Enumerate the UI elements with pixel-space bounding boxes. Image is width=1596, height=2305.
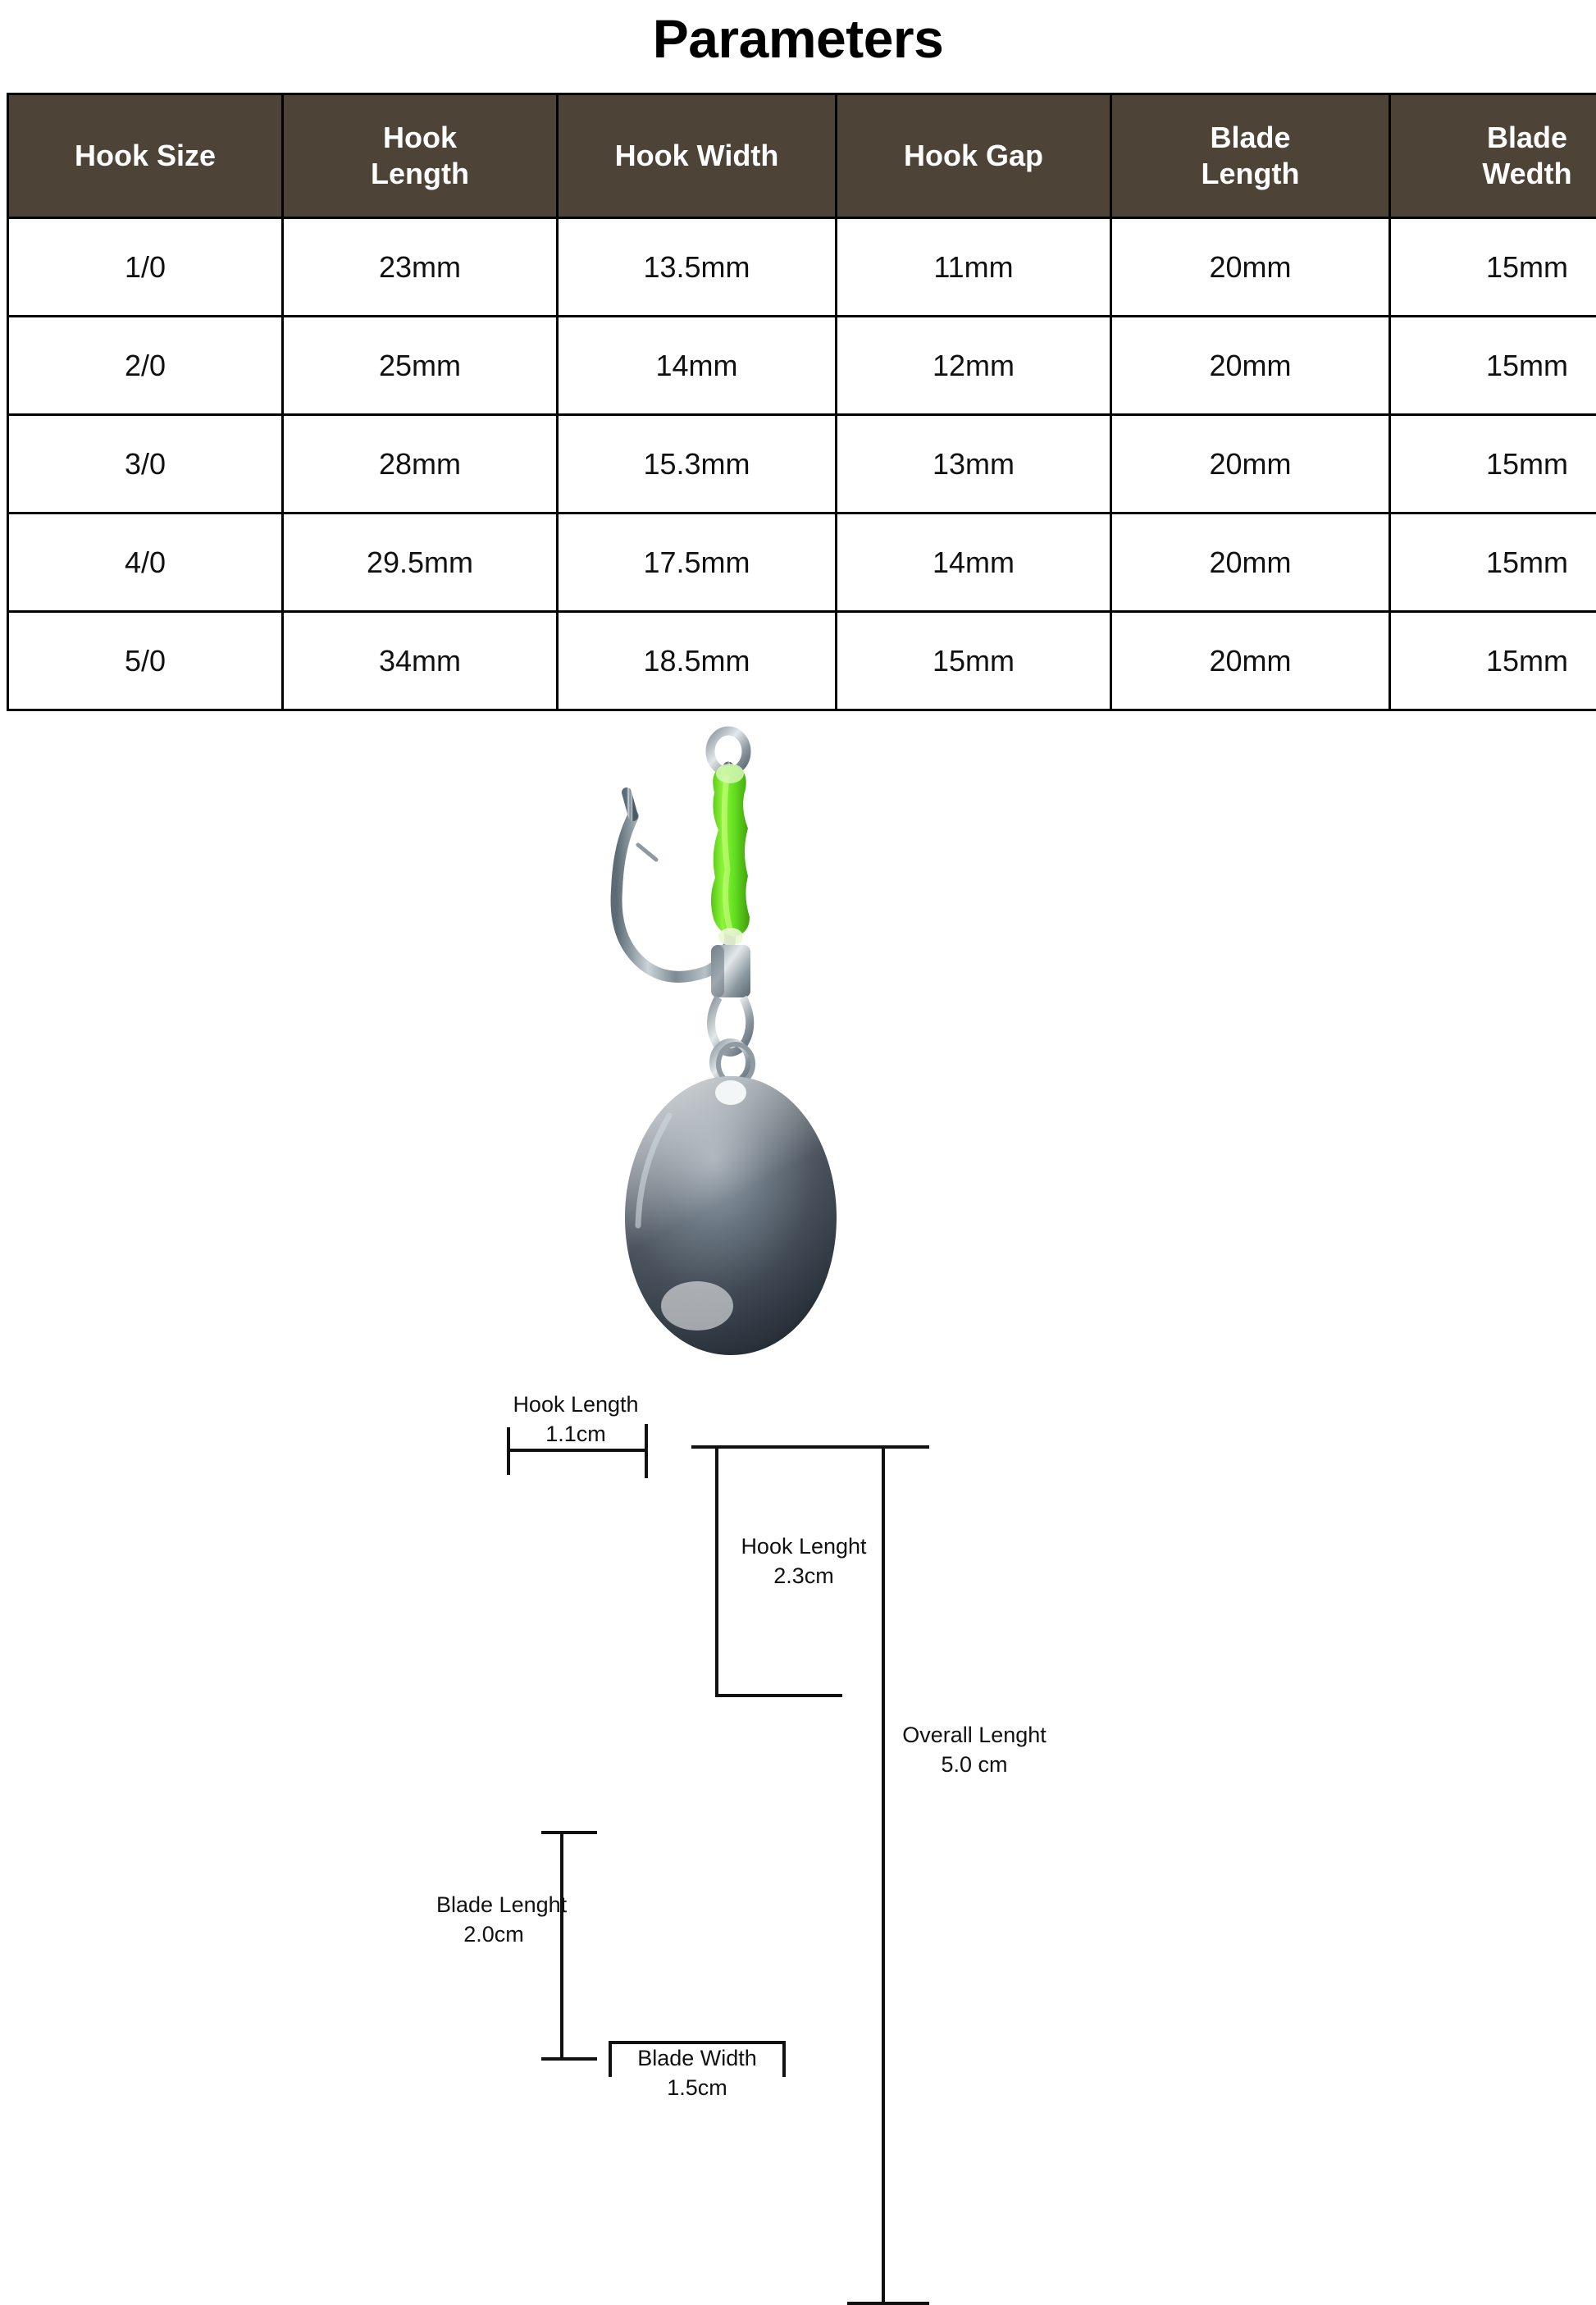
column-header-label: Hook Size [75,139,216,172]
column-header-label-line2: Wedth [1482,157,1571,190]
hook-barb [638,845,656,860]
cell-hook-size: 2/0 [8,317,283,415]
blade-width-dim-value: 1.5cm [667,2075,727,2100]
hook-length-dim-label: Hook Lenght 2.3cm [726,1532,882,1591]
cell-hook-length: 25mm [283,317,558,415]
cell-hook-width: 14mm [558,317,837,415]
lure-skirt [711,765,750,937]
cell-blade-width: 15mm [1390,415,1596,513]
hook-point [627,792,633,816]
blade-length-dim-top-line [541,1831,597,1834]
hook-gap-dim-line [507,1449,648,1452]
cell-hook-length: 28mm [283,415,558,513]
skirt-bead-top [716,764,744,783]
overall-length-dim-name: Overall Lenght [902,1723,1047,1747]
column-header-label-line2: Length [371,157,469,190]
table-row: 3/0 28mm 15.3mm 13mm 20mm 15mm [8,415,1596,513]
cell-hook-width: 17.5mm [558,513,837,612]
overall-length-dim-label: Overall Lenght 5.0 cm [892,1721,1056,1779]
cell-hook-width: 15.3mm [558,415,837,513]
blade-length-dim-label: Blade Lenght 2.0cm [436,1891,551,1949]
cell-hook-width: 13.5mm [558,218,837,317]
table-row: 1/0 23mm 13.5mm 11mm 20mm 15mm [8,218,1596,317]
page-title: Parameters [0,11,1596,66]
cell-hook-length: 29.5mm [283,513,558,612]
cell-hook-gap: 14mm [837,513,1111,612]
column-header-blade-length: BladeLength [1111,94,1390,218]
table-row: 4/0 29.5mm 17.5mm 14mm 20mm 15mm [8,513,1596,612]
cell-blade-width: 15mm [1390,317,1596,415]
swivel-barrel-shade [711,945,724,997]
overall-length-dim-top-line [855,1445,929,1449]
table-header-row: Hook Size HookLength Hook Width Hook Gap… [8,94,1596,218]
hook-length-dim-line [715,1445,718,1696]
overall-length-dim-bottom-line [847,2302,929,2305]
cell-hook-size: 1/0 [8,218,283,317]
table-row: 2/0 25mm 14mm 12mm 20mm 15mm [8,317,1596,415]
column-header-hook-width: Hook Width [558,94,837,218]
cell-blade-length: 20mm [1111,415,1390,513]
table-body: 1/0 23mm 13.5mm 11mm 20mm 15mm 2/0 25mm … [8,218,1596,710]
cell-blade-width: 15mm [1390,612,1596,710]
cell-hook-length: 34mm [283,612,558,710]
blade-length-dim-value: 2.0cm [463,1922,524,1947]
column-header-hook-length: HookLength [283,94,558,218]
cell-blade-length: 20mm [1111,317,1390,415]
cell-blade-width: 15mm [1390,513,1596,612]
cell-hook-length: 23mm [283,218,558,317]
column-header-label-line1: Hook [383,121,457,154]
hook-length-dim-bottom-line [715,1694,842,1697]
column-header-hook-size: Hook Size [8,94,283,218]
cell-hook-gap: 11mm [837,218,1111,317]
column-header-label: Hook Gap [904,139,1043,172]
column-header-label-line1: Blade [1487,121,1567,154]
cell-hook-gap: 15mm [837,612,1111,710]
cell-blade-length: 20mm [1111,612,1390,710]
overall-length-dim-line [882,1445,885,2305]
cell-hook-gap: 12mm [837,317,1111,415]
column-header-label-line2: Length [1202,157,1300,190]
hook-gap-dim-label: Hook Length 1.1cm [502,1390,650,1449]
parameters-table: Hook Size HookLength Hook Width Hook Gap… [7,93,1596,711]
cell-hook-size: 4/0 [8,513,283,612]
blade-length-dim-name: Blade Lenght [436,1892,567,1917]
column-header-label: Hook Width [615,139,779,172]
column-header-label-line1: Blade [1210,121,1290,154]
column-header-blade-width: BladeWedth [1390,94,1596,218]
cell-hook-size: 5/0 [8,612,283,710]
hook-gap-dim-name: Hook Length [513,1392,638,1417]
cell-blade-length: 20mm [1111,513,1390,612]
blade-length-dim-bottom-line [541,2057,597,2061]
cell-hook-width: 18.5mm [558,612,837,710]
hook-length-dim-name: Hook Lenght [741,1534,866,1559]
blade-length-dim-line [560,1831,563,2061]
lure-dimension-diagram: Hook Length 1.1cm Hook Lenght 2.3cm Over… [0,722,1596,1596]
blade-hole [715,1080,746,1105]
blade-width-dim-label: Blade Width 1.5cm [607,2044,787,2102]
hook-length-dim-value: 2.3cm [773,1563,834,1588]
overall-length-dim-value: 5.0 cm [941,1752,1007,1777]
blade-highlight [661,1281,733,1331]
hook-gap-dim-value: 1.1cm [545,1422,606,1446]
cell-hook-size: 3/0 [8,415,283,513]
skirt-bead-bottom [718,928,743,946]
cell-blade-length: 20mm [1111,218,1390,317]
table-row: 5/0 34mm 18.5mm 15mm 20mm 15mm [8,612,1596,710]
cell-hook-gap: 13mm [837,415,1111,513]
column-header-hook-gap: Hook Gap [837,94,1111,218]
blade-width-dim-name: Blade Width [637,2046,757,2070]
cell-blade-width: 15mm [1390,218,1596,317]
spinner-blade [625,1076,837,1355]
